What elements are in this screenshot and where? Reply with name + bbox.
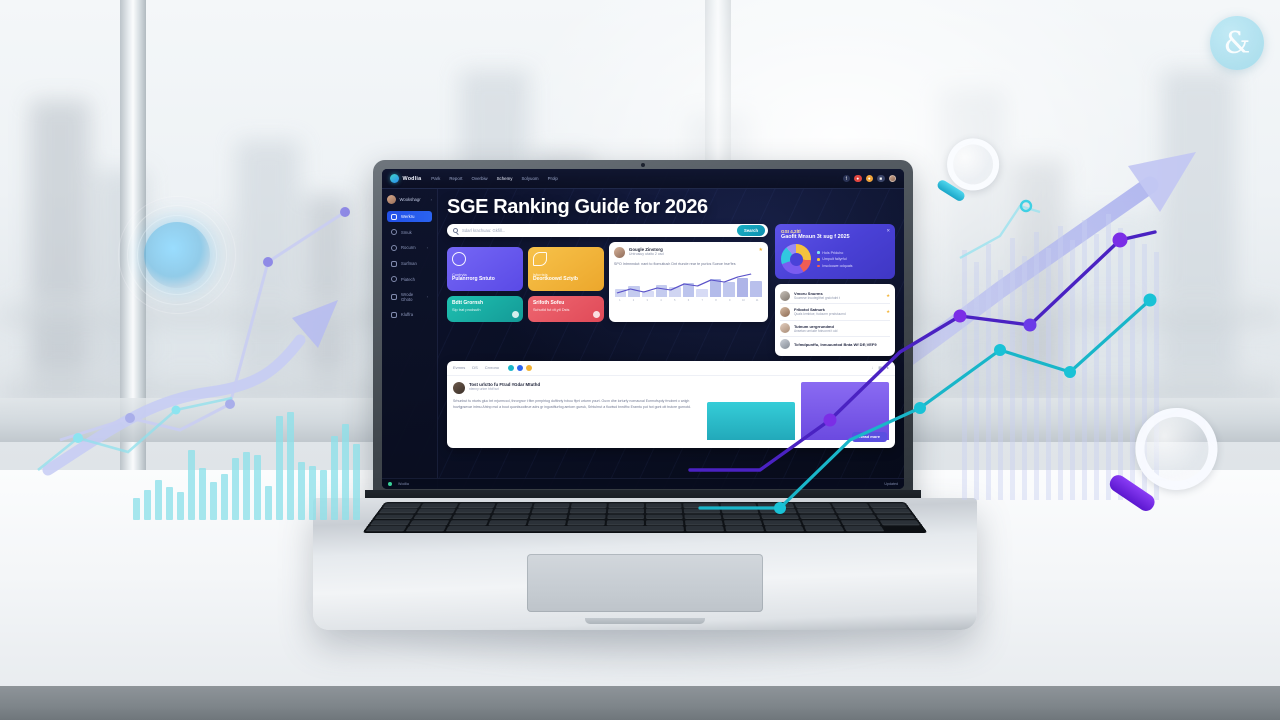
legend-dot bbox=[817, 265, 820, 268]
promo-body: Hols Prlduho Umpult fallyrful bbox=[781, 244, 889, 274]
status-indicator-icon bbox=[388, 482, 392, 486]
nav-item-solyuom[interactable]: Solyuom bbox=[521, 176, 538, 181]
promo-title: Gaofit Mnsun 3t sug f 2025 bbox=[781, 234, 889, 240]
screen-bezel: Wodlia Park Report Overbiw Schemy Solyuo… bbox=[382, 169, 904, 489]
close-icon[interactable]: ✕ bbox=[886, 228, 890, 234]
keyboard[interactable] bbox=[362, 502, 927, 533]
legend-label: Umpult fallyrful bbox=[822, 257, 846, 261]
list-item-name: Tcfmdpunffu, Innuuuntod Bnta Wf DE;VEF9 bbox=[794, 342, 877, 347]
avatar bbox=[453, 382, 465, 394]
list-card: Vmoru Snurms Suumrse Inuoteglthel gndchd… bbox=[775, 284, 895, 356]
legend-dot bbox=[817, 258, 820, 261]
right-column: ✕ GSI 4,2ltl Gaofit Mnsun 3t sug f 2025 bbox=[775, 224, 895, 356]
sidebar-item-kluffra[interactable]: Kluffra bbox=[387, 309, 432, 320]
sidebar-item-label: Wrode Ghoto bbox=[401, 292, 423, 302]
chevron-down-icon: › bbox=[427, 246, 428, 250]
list-item[interactable]: Tutnum urrgrrundmd Ansetan umiude fotruo… bbox=[780, 321, 890, 337]
app-brand[interactable]: Wodlia bbox=[390, 174, 421, 183]
list-item[interactable]: Tcfmdpunffu, Innuuuntod Bnta Wf DE;VEF9 bbox=[780, 337, 890, 352]
feature-card-subtitle: Isfurrists bbox=[533, 272, 599, 277]
article-chips bbox=[508, 365, 532, 371]
legend-item: Hols Prlduho bbox=[817, 251, 853, 255]
star-icon: ★ bbox=[886, 309, 890, 315]
laptop: Wodlia Park Report Overbiw Schemy Solyuo… bbox=[305, 160, 985, 630]
keyboard-row bbox=[383, 503, 907, 507]
list-item[interactable]: Vmoru Snurms Suumrse Inuoteglthel gndchd… bbox=[780, 288, 890, 304]
search-button[interactable]: Search bbox=[737, 225, 765, 235]
keyboard-row bbox=[366, 526, 925, 531]
grid-icon[interactable]: ▦ bbox=[878, 365, 882, 370]
article-paragraph: Srhunbut fu nturts gluc brt nrjurmccd, t… bbox=[453, 398, 700, 410]
trackpad[interactable] bbox=[527, 554, 763, 612]
sidebar-item-label: Werkru bbox=[401, 214, 414, 219]
clock-icon bbox=[593, 311, 600, 318]
avatar bbox=[614, 247, 625, 258]
statusbar-label: Wodlia bbox=[398, 482, 409, 486]
article-controls: ↓ ▦ ▸ bbox=[871, 365, 889, 370]
laptop-lid: Wodlia Park Report Overbiw Schemy Solyuo… bbox=[373, 160, 913, 508]
nav-item-overbiw[interactable]: Overbiw bbox=[472, 176, 488, 181]
info-card-header: Gougle Zinstorg Untrusiuy utaito 2 osd ★ bbox=[614, 247, 763, 258]
app-sidebar: Wookshagr › Werkru Smuk bbox=[382, 189, 438, 489]
star-icon: ★ bbox=[886, 293, 890, 299]
record-icon[interactable]: ● bbox=[854, 175, 862, 183]
list-item-name: Tutnum urrgrrundmd bbox=[794, 324, 837, 329]
scene-root: Wodlia Park Report Overbiw Schemy Solyuo… bbox=[0, 0, 1280, 720]
page-title: SGE Ranking Guide for 2026 bbox=[447, 197, 895, 217]
nav-item-prolp[interactable]: Prolp bbox=[548, 176, 558, 181]
app-topbar: Wodlia Park Report Overbiw Schemy Solyuo… bbox=[382, 169, 904, 189]
nav-item-park[interactable]: Park bbox=[431, 176, 440, 181]
sidebar-item-wrode-ghoto[interactable]: Wrode Ghoto › bbox=[387, 289, 432, 304]
facebook-icon[interactable]: f bbox=[843, 175, 851, 183]
tab-ds[interactable]: DS bbox=[472, 365, 478, 370]
star-icon: ★ bbox=[759, 247, 763, 253]
sidebar-item-surfman[interactable]: Surfman bbox=[387, 258, 432, 269]
chart-bar-a bbox=[707, 402, 795, 440]
feature-card-srifoth-sofeu[interactable]: Srifoth Sofeu Schutld fut dt,ytl Dsts bbox=[528, 296, 604, 322]
brand-logo-icon bbox=[390, 174, 399, 183]
leaf-icon bbox=[512, 311, 519, 318]
topbar-icons: f ● ● ■ bbox=[843, 175, 897, 183]
list-item[interactable]: Frlbotol Satnurk Quals krmbiue, fudourm … bbox=[780, 304, 890, 320]
keyboard-row bbox=[379, 509, 912, 514]
nav-item-report[interactable]: Report bbox=[449, 176, 462, 181]
profile-name: Wookshagr bbox=[400, 197, 421, 202]
briefcase-icon[interactable]: ■ bbox=[877, 175, 885, 183]
legend-item: Inscloowe odquals bbox=[817, 264, 853, 268]
avatar bbox=[780, 291, 790, 301]
chevron-down-icon: › bbox=[427, 295, 428, 299]
info-card-chart: 123 456 789 1011 bbox=[614, 273, 763, 301]
list-item-meta: Quals krmbiue, fudourm prndstuumd bbox=[794, 312, 846, 316]
sidebar-nav: Werkru Smuk Rocurm › bbox=[387, 211, 432, 320]
list-item-meta: Ansetan umiude fotruonnt t uid bbox=[794, 329, 837, 333]
play-icon[interactable]: ▸ bbox=[887, 365, 889, 370]
donut-chart bbox=[781, 244, 811, 274]
watermark-logo: & bbox=[1210, 16, 1264, 70]
list-item-meta: Suumrse Inuoteglthel gndchdnt t bbox=[794, 296, 840, 300]
clock-icon bbox=[391, 245, 397, 251]
webcam-icon bbox=[641, 163, 645, 167]
sidebar-item-label: Rocurm bbox=[401, 245, 416, 250]
search-input[interactable]: Sdarl krachuau: Gkfill... bbox=[462, 228, 733, 233]
chat-bubble-icon bbox=[452, 252, 466, 266]
brand-name: Wodlia bbox=[403, 176, 422, 182]
feature-card-subtitle: Sip trat prodsuth bbox=[452, 307, 518, 312]
globe-icon bbox=[391, 276, 397, 282]
avatar bbox=[780, 307, 790, 317]
chip-teal-icon bbox=[508, 365, 514, 371]
feature-card-contryta[interactable]: Contryta Pulanrrorg Sntuto bbox=[447, 247, 523, 291]
sidebar-item-label: Kluffra bbox=[401, 312, 413, 317]
article-tabs: Evmns DS Crvrono ↓ ▦ bbox=[447, 361, 895, 376]
search-icon bbox=[453, 228, 458, 233]
feature-card-bdtt-grornsh[interactable]: Bdtt Grornsh Sip trat prodsuth bbox=[447, 296, 523, 322]
article-text: Tost urlctto fu Ftrad #Gdar Mtuthd nlenn… bbox=[453, 382, 700, 442]
legend-dot bbox=[817, 251, 820, 254]
avatar bbox=[780, 339, 790, 349]
info-card-subtitle: Untrusiuy utaito 2 osd bbox=[629, 252, 664, 256]
shield-icon bbox=[391, 261, 397, 267]
sidebar-profile[interactable]: Wookshagr › bbox=[387, 195, 432, 204]
app-statusbar: Wodlia Updated bbox=[382, 478, 904, 489]
legend-label: Hols Prlduho bbox=[822, 251, 843, 255]
keyboard-row bbox=[370, 520, 920, 525]
notification-icon[interactable]: ● bbox=[866, 175, 874, 183]
sidebar-item-piatech[interactable]: Piatech bbox=[387, 274, 432, 285]
article-subtitle: nlenny urkre hfdf turl bbox=[469, 387, 540, 391]
layers-icon bbox=[391, 294, 397, 300]
laptop-front-notch bbox=[585, 618, 705, 624]
target-icon bbox=[391, 229, 397, 235]
article-header: Tost urlctto fu Ftrad #Gdar Mtuthd nlenn… bbox=[453, 382, 700, 394]
avatar bbox=[780, 323, 790, 333]
article-body: Tost urlctto fu Ftrad #Gdar Mtuthd nlenn… bbox=[447, 376, 895, 448]
feature-card-subtitle: Schutld fut dt,ytl Dsts bbox=[533, 307, 599, 312]
home-icon bbox=[391, 214, 397, 220]
sidebar-item-label: Piatech bbox=[401, 277, 415, 282]
feature-card-subtitle: Contryta bbox=[452, 272, 518, 277]
app-screen: Wodlia Park Report Overbiw Schemy Solyuo… bbox=[382, 169, 904, 489]
legend-item: Umpult fallyrful bbox=[817, 257, 853, 261]
sidebar-item-smuk[interactable]: Smuk bbox=[387, 227, 432, 238]
search-bar[interactable]: Sdarl krachuau: Gkfill... Search bbox=[447, 224, 768, 237]
sidebar-item-label: Surfman bbox=[401, 261, 417, 266]
download-icon[interactable]: ↓ bbox=[871, 365, 873, 370]
book-icon bbox=[391, 312, 397, 318]
legend-label: Inscloowe odquals bbox=[822, 264, 852, 268]
info-card-body: SPO Intmnndut: nant to flomutiush Dnt rt… bbox=[614, 262, 763, 268]
feature-card-title: Deortkoowd Sztyib bbox=[533, 277, 599, 283]
keyboard-row bbox=[374, 514, 915, 519]
chip-blue-icon bbox=[517, 365, 523, 371]
avatar bbox=[387, 195, 396, 204]
read-more-button[interactable]: Read more bbox=[852, 432, 887, 442]
article-card: Evmns DS Crvrono ↓ ▦ bbox=[447, 361, 895, 448]
chart-x-labels: 123 456 789 1011 bbox=[614, 299, 763, 302]
top-nav: Park Report Overbiw Schemy Solyuom Prolp bbox=[431, 176, 558, 181]
tab-evmns[interactable]: Evmns bbox=[453, 365, 465, 370]
watermark-glyph: & bbox=[1224, 26, 1251, 61]
desk-front-edge bbox=[0, 686, 1280, 720]
chart-line bbox=[614, 273, 763, 301]
info-card[interactable]: Gougle Zinstorg Untrusiuy utaito 2 osd ★… bbox=[609, 242, 768, 322]
sidebar-item-werkru[interactable]: Werkru bbox=[387, 211, 432, 222]
app-content: SGE Ranking Guide for 2026 Sdarl krachua… bbox=[438, 189, 904, 489]
atom-icon bbox=[533, 252, 547, 266]
chip-amber-icon bbox=[526, 365, 532, 371]
chevron-down-icon: › bbox=[431, 197, 432, 202]
laptop-base bbox=[313, 498, 977, 630]
avatar-icon[interactable] bbox=[889, 175, 897, 183]
feature-card-isfurrists[interactable]: Isfurrists Deortkoowd Sztyib bbox=[528, 247, 604, 291]
sidebar-item-label: Smuk bbox=[401, 230, 412, 235]
nav-item-schemy[interactable]: Schemy bbox=[497, 176, 513, 181]
statusbar-status: Updated bbox=[884, 482, 898, 486]
feature-card-grid: Contryta Pulanrrorg Sntuto Isfurrists De… bbox=[447, 247, 604, 322]
tab-crvrono[interactable]: Crvrono bbox=[485, 365, 499, 370]
sidebar-item-rocurm[interactable]: Rocurm › bbox=[387, 242, 432, 253]
search-and-promo-row: Sdarl krachuau: Gkfill... Search bbox=[447, 224, 895, 356]
promo-legend: Hols Prlduho Umpult fallyrful bbox=[817, 251, 853, 268]
promo-card[interactable]: ✕ GSI 4,2ltl Gaofit Mnsun 3t sug f 2025 bbox=[775, 224, 895, 279]
feature-card-title: Pulanrrorg Sntuto bbox=[452, 277, 518, 283]
